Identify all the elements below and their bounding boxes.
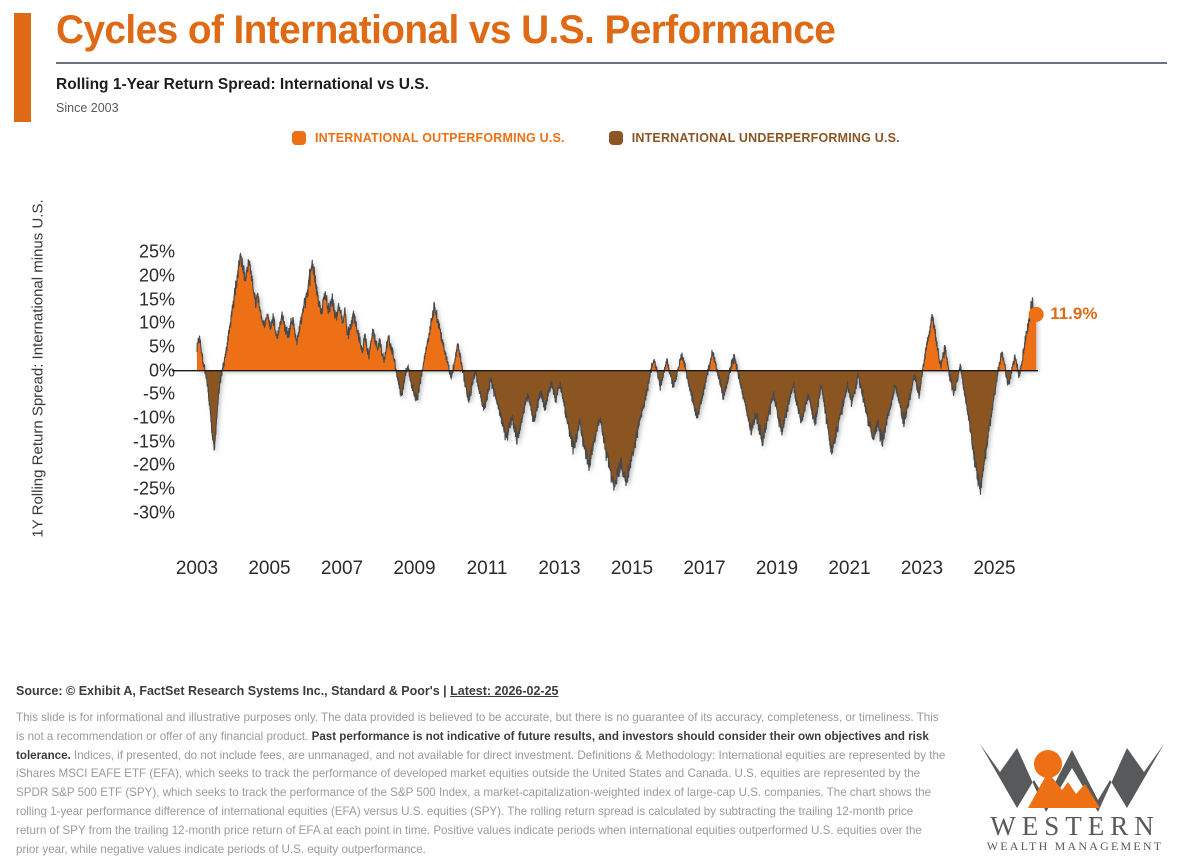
- chart-container: 1Y Rolling Return Spread: International …: [0, 160, 1200, 600]
- x-tick-label: 2017: [683, 558, 725, 580]
- page-title: Cycles of International vs U.S. Performa…: [56, 8, 835, 53]
- legend-item-underperforming[interactable]: INTERNATIONAL UNDERPERFORMING U.S.: [609, 131, 900, 145]
- accent-bar: [14, 13, 31, 122]
- source-latest-date[interactable]: Latest: 2026-02-25: [450, 684, 558, 698]
- x-tick-label: 2003: [176, 558, 218, 580]
- chart-legend: INTERNATIONAL OUTPERFORMING U.S. INTERNA…: [292, 131, 900, 145]
- page-header: Cycles of International vs U.S. Performa…: [0, 0, 1200, 130]
- legend-label-outperforming: INTERNATIONAL OUTPERFORMING U.S.: [315, 131, 565, 145]
- logo-mark: [980, 744, 1164, 812]
- header-divider: [56, 62, 1167, 64]
- x-tick-label: 2021: [828, 558, 870, 580]
- source-line: Source: © Exhibit A, FactSet Research Sy…: [16, 684, 946, 698]
- area-negative: [197, 253, 1036, 495]
- legend-item-outperforming[interactable]: INTERNATIONAL OUTPERFORMING U.S.: [292, 131, 565, 145]
- logo-tagline: WEALTH MANAGEMENT: [987, 839, 1164, 853]
- plot-area: [0, 160, 1200, 600]
- x-tick-label: 2009: [393, 558, 435, 580]
- disclaimer-part-2: Indices, if presented, do not include fe…: [16, 749, 945, 856]
- endpoint-marker[interactable]: [1029, 307, 1044, 322]
- x-tick-label: 2013: [538, 558, 580, 580]
- legend-label-underperforming: INTERNATIONAL UNDERPERFORMING U.S.: [632, 131, 900, 145]
- endpoint-value-label: 11.9%: [1050, 304, 1097, 324]
- x-tick-label: 2007: [321, 558, 363, 580]
- x-tick-label: 2005: [248, 558, 290, 580]
- footer: Source: © Exhibit A, FactSet Research Sy…: [16, 684, 946, 859]
- legend-swatch-orange: [292, 131, 306, 145]
- chart-period-label: Since 2003: [56, 101, 119, 115]
- logo-svg: WESTERN WEALTH MANAGEMENT: [968, 736, 1183, 856]
- disclaimer-text: This slide is for informational and illu…: [16, 709, 946, 859]
- x-tick-label: 2011: [467, 558, 508, 580]
- company-logo: WESTERN WEALTH MANAGEMENT: [968, 736, 1183, 856]
- source-prefix: Source: © Exhibit A, FactSet Research Sy…: [16, 684, 450, 698]
- chart-subtitle: Rolling 1-Year Return Spread: Internatio…: [56, 76, 429, 94]
- x-tick-label: 2025: [973, 558, 1015, 580]
- x-tick-label: 2019: [756, 558, 798, 580]
- x-tick-label: 2023: [901, 558, 943, 580]
- logo-wordmark: WESTERN: [990, 811, 1160, 841]
- x-tick-label: 2015: [611, 558, 653, 580]
- legend-swatch-brown: [609, 131, 623, 145]
